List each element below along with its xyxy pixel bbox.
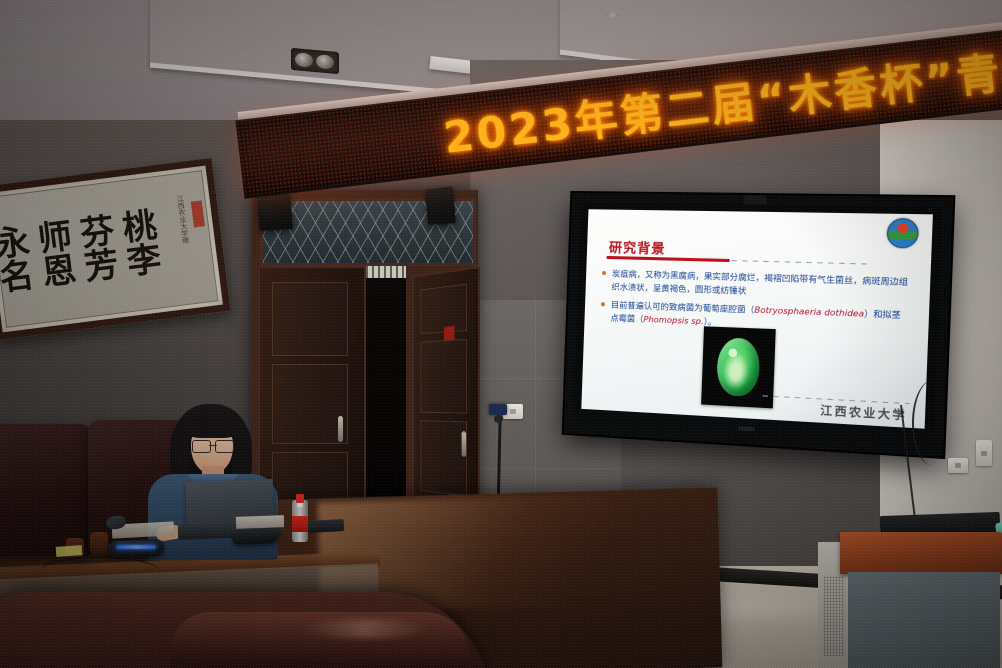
display-camera-icon bbox=[743, 195, 767, 205]
slide-title-dashed-rule bbox=[732, 260, 873, 265]
wall-speaker-right bbox=[425, 186, 456, 225]
lectern-body bbox=[848, 572, 1000, 668]
participant-glasses-icon bbox=[192, 440, 234, 451]
slide-watermark: 江西农业大学 bbox=[820, 402, 907, 424]
microphone-led-indicator bbox=[116, 545, 156, 549]
lectern-wood-top bbox=[840, 532, 1002, 574]
lectern[interactable] bbox=[818, 518, 1002, 668]
photo-scene: 桃李 芬芳 师恩 永名 江西农业大学赠 bbox=[0, 0, 1002, 668]
water-bottle bbox=[292, 490, 308, 542]
framed-calligraphy: 桃李 芬芳 师恩 永名 江西农业大学赠 bbox=[0, 158, 231, 340]
ceiling-pinlight-a bbox=[606, 12, 619, 18]
wall-outlet-right-2[interactable] bbox=[976, 440, 992, 466]
recessed-downlight-icon bbox=[291, 48, 339, 74]
bullet-marker-icon bbox=[601, 302, 605, 306]
open-doorway bbox=[360, 266, 406, 516]
bottle-cap bbox=[296, 494, 304, 503]
university-logo-icon bbox=[886, 218, 919, 249]
slide-bullet-1-text: 炭疽病，又称为黑腐病，果实部分腐烂，褐褶凹陷带有气生菌丝，病斑周边组织水渍状，呈… bbox=[611, 268, 908, 295]
presentation-slide: 研究背景 炭疽病，又称为黑腐病，果实部分腐烂，褐褶凹陷带有气生菌丝，病斑周边组织… bbox=[581, 209, 933, 428]
lectern-speaker-grille-icon bbox=[823, 576, 845, 656]
slide-bullet-1: 炭疽病，又称为黑腐病，果实部分腐烂，褐褶凹陷带有气生菌丝，病斑周边组织水渍状，呈… bbox=[611, 267, 910, 302]
display-indicator-icon bbox=[738, 426, 755, 431]
presentation-display[interactable]: 研究背景 炭疽病，又称为黑腐病，果实部分腐烂，褐褶凹陷带有气生菌丝，病斑周边组织… bbox=[564, 193, 953, 457]
tripod-adjust-knob[interactable] bbox=[494, 415, 503, 423]
desk-device bbox=[308, 519, 345, 533]
sofa-highlight bbox=[300, 620, 430, 638]
calligraphy-characters: 桃李 芬芳 师恩 永名 bbox=[0, 178, 175, 326]
diseased-fruit-image bbox=[716, 337, 760, 397]
tripod-camera-icon bbox=[489, 404, 507, 415]
bottle-label bbox=[292, 516, 308, 532]
species-name-2: Phomopsis sp. bbox=[643, 313, 704, 326]
door-handle-left[interactable] bbox=[338, 416, 343, 442]
door-assembly[interactable] bbox=[252, 190, 478, 520]
sofa-armrest bbox=[170, 612, 470, 668]
sticky-note bbox=[56, 545, 83, 557]
desk-cable bbox=[40, 556, 160, 588]
slide-title: 研究背景 bbox=[609, 237, 666, 258]
door-leaf-right[interactable] bbox=[412, 266, 480, 520]
chair-left[interactable] bbox=[0, 424, 92, 556]
papers-right bbox=[236, 515, 284, 529]
loose-cable-b bbox=[912, 380, 954, 466]
bullet-marker-icon bbox=[602, 271, 606, 275]
slide-title-underline bbox=[607, 256, 730, 262]
door-handle-right[interactable] bbox=[462, 431, 467, 457]
wall-outlet-right[interactable] bbox=[948, 458, 968, 473]
species-name-1: Botryosphaeria dothidea bbox=[754, 304, 864, 318]
slide-bullet-2-tail: ）。 bbox=[704, 316, 717, 327]
conference-microphone-base-2[interactable] bbox=[232, 530, 279, 545]
participant-fringe bbox=[184, 412, 240, 438]
doorway-light-strip bbox=[362, 266, 406, 278]
